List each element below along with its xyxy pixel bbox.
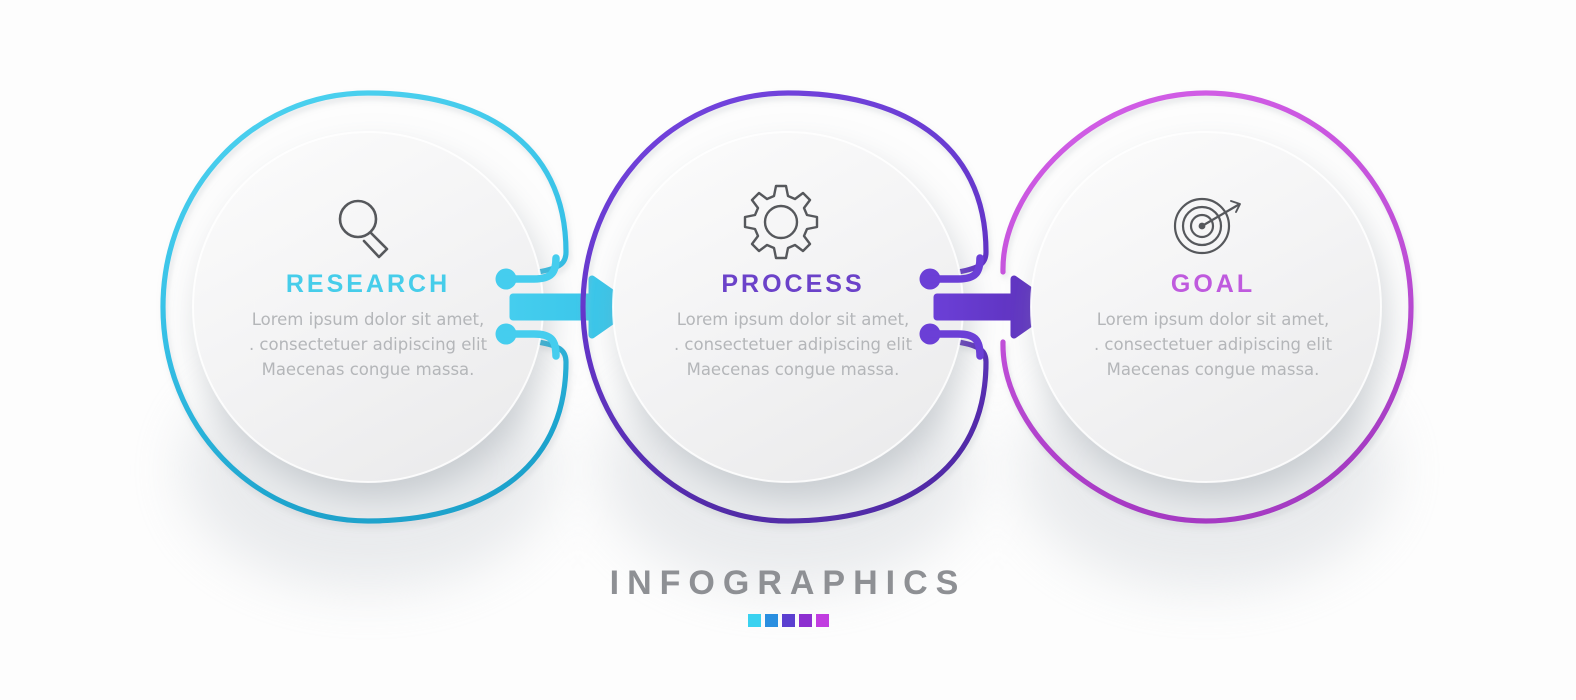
goal-disc <box>1031 132 1381 482</box>
brand-swatch-strip <box>0 614 1576 627</box>
infographic-canvas: RESEARCH Lorem ipsum dolor sit amet, . c… <box>0 0 1576 700</box>
brand-swatch-3 <box>782 614 795 627</box>
brand-swatch-2 <box>765 614 778 627</box>
brand-swatch-1 <box>748 614 761 627</box>
brand-title: INFOGRAPHICS <box>0 566 1576 600</box>
process-disc <box>613 132 963 482</box>
brand-swatch-5 <box>816 614 829 627</box>
brand-footer: INFOGRAPHICS <box>0 566 1576 627</box>
brand-swatch-4 <box>799 614 812 627</box>
research-disc <box>193 132 543 482</box>
